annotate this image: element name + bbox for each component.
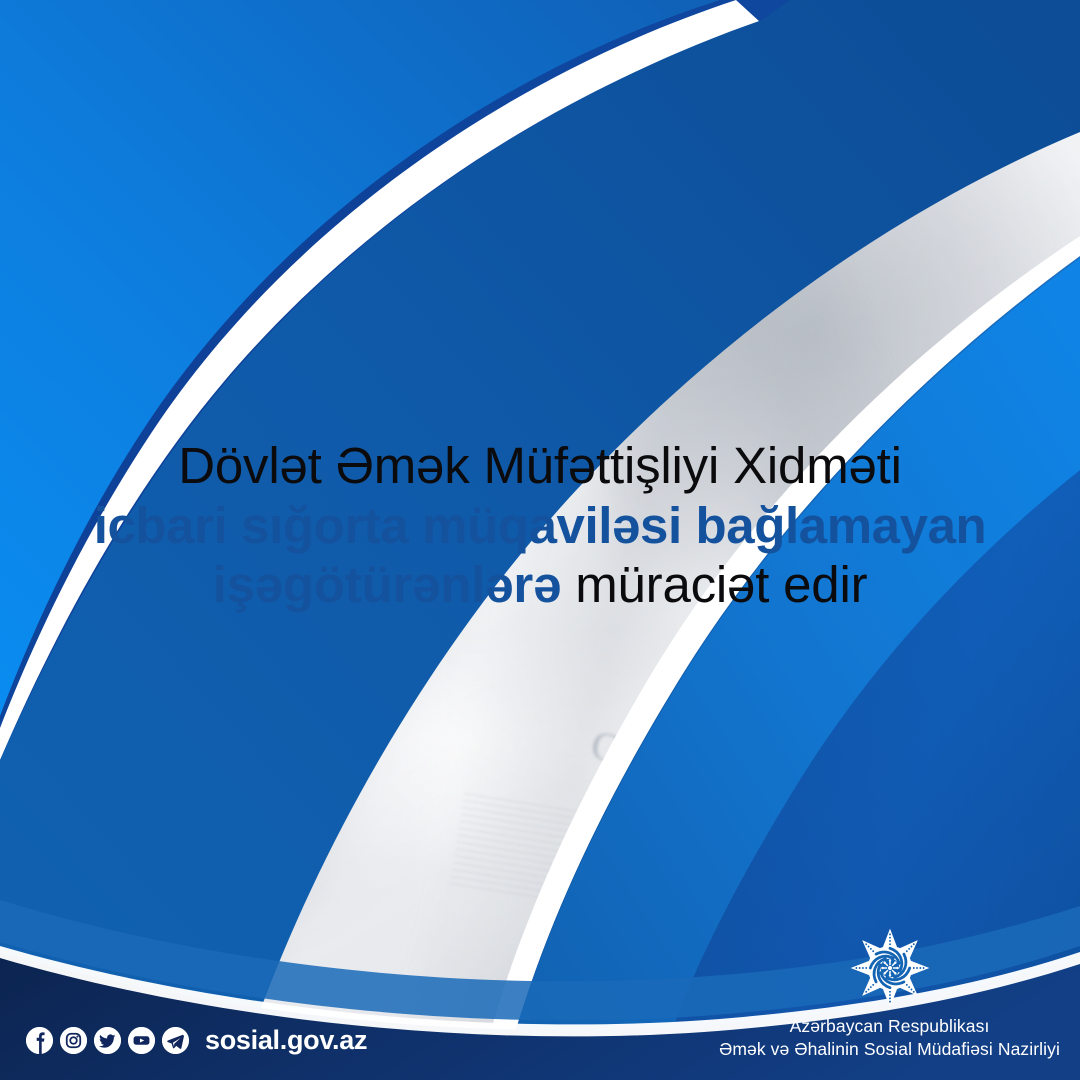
headline-block: Dövlət Əmək Müfəttişliyi Xidməti icbari …: [0, 436, 1080, 615]
telegram-icon[interactable]: [162, 1027, 189, 1054]
website-url[interactable]: sosial.gov.az: [205, 1025, 367, 1056]
headline-line-3-rest: müraciət edir: [561, 556, 867, 613]
headline-line-3: işəgötürənlərə müraciət edir: [0, 555, 1080, 615]
ministry-name-line-1: Azərbaycan Respublikası: [719, 1015, 1060, 1039]
youtube-icon[interactable]: [128, 1027, 155, 1054]
twitter-icon[interactable]: [94, 1027, 121, 1054]
instagram-icon[interactable]: [60, 1027, 87, 1054]
social-links-row: sosial.gov.az: [26, 1025, 367, 1056]
poster-canvas: CONTRACT: [0, 0, 1080, 1080]
ministry-lockup: Azərbaycan Respublikası Əmək və Əhalinin…: [719, 927, 1060, 1062]
ministry-name-line-2: Əmək və Əhalinin Sosial Müdafiəsi Nazirl…: [719, 1038, 1060, 1062]
headline-emphasis: işəgötürənlərə: [213, 556, 562, 613]
headline-line-2: icbari sığorta müqaviləsi bağlamayan: [0, 496, 1080, 556]
headline-line-1: Dövlət Əmək Müfəttişliyi Xidməti: [0, 436, 1080, 496]
azerbaijan-star-emblem-icon: [849, 927, 931, 1009]
facebook-icon[interactable]: [26, 1027, 53, 1054]
